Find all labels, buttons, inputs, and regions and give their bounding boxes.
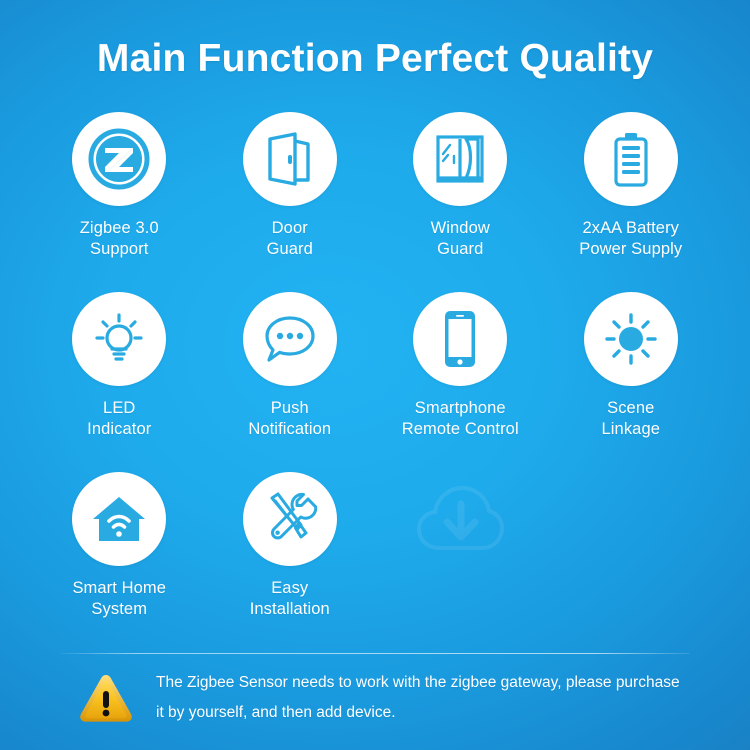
feature-icon-bubble [584, 292, 678, 386]
feature-label: 2xAA Battery Power Supply [579, 218, 682, 260]
feature-item-door-guard[interactable]: Door Guard [205, 112, 376, 292]
feature-icon-bubble [243, 292, 337, 386]
feature-row: Smart Home System [34, 472, 716, 652]
battery-icon [604, 130, 658, 188]
feature-item-led-indicator[interactable]: LED Indicator [34, 292, 205, 472]
feature-icon-bubble [413, 292, 507, 386]
feature-item-push-notification[interactable]: Push Notification [205, 292, 376, 472]
feature-label: Window Guard [431, 218, 490, 260]
feature-icon-bubble [243, 112, 337, 206]
feature-row: Zigbee 3.0 Support Door Guard [34, 112, 716, 292]
feature-label: LED Indicator [87, 398, 151, 440]
feature-item-battery[interactable]: 2xAA Battery Power Supply [546, 112, 717, 292]
feature-item-zigbee-support[interactable]: Zigbee 3.0 Support [34, 112, 205, 292]
feature-icon-bubble [584, 112, 678, 206]
sun-icon [602, 310, 660, 368]
home-wifi-icon [89, 491, 149, 547]
notice-text: The Zigbee Sensor needs to work with the… [156, 668, 686, 728]
smartphone-icon [439, 308, 481, 370]
door-icon [261, 130, 319, 188]
feature-label: Smartphone Remote Control [402, 398, 519, 440]
section-divider [60, 653, 690, 654]
feature-icon-bubble [72, 112, 166, 206]
feature-label: Smart Home System [72, 578, 166, 620]
lightbulb-icon [90, 310, 148, 368]
page-title: Main Function Perfect Quality [0, 38, 750, 81]
feature-item-window-guard[interactable]: Window Guard [375, 112, 546, 292]
feature-grid: Zigbee 3.0 Support Door Guard [34, 112, 716, 652]
tools-icon [261, 490, 319, 548]
feature-item-scene-linkage[interactable]: Scene Linkage [546, 292, 717, 472]
window-icon [431, 130, 489, 188]
zigbee-logo-icon [86, 126, 152, 192]
feature-label: Door Guard [267, 218, 313, 260]
feature-item-smartphone-remote[interactable]: Smartphone Remote Control [375, 292, 546, 472]
feature-icon-bubble [243, 472, 337, 566]
feature-label: Easy Installation [250, 578, 330, 620]
feature-label: Zigbee 3.0 Support [80, 218, 159, 260]
feature-label: Scene Linkage [602, 398, 661, 440]
feature-poster: Main Function Perfect Quality Zigbee 3.0… [0, 0, 750, 750]
feature-item-smart-home-system[interactable]: Smart Home System [34, 472, 205, 652]
warning-triangle-icon [78, 672, 134, 724]
feature-icon-bubble [72, 472, 166, 566]
chat-bubble-icon [261, 310, 319, 368]
notice-banner: The Zigbee Sensor needs to work with the… [78, 668, 698, 728]
feature-label: Push Notification [248, 398, 331, 440]
feature-icon-bubble [72, 292, 166, 386]
feature-item-easy-installation[interactable]: Easy Installation [205, 472, 376, 652]
feature-icon-bubble [413, 112, 507, 206]
feature-row: LED Indicator Push Notification [34, 292, 716, 472]
